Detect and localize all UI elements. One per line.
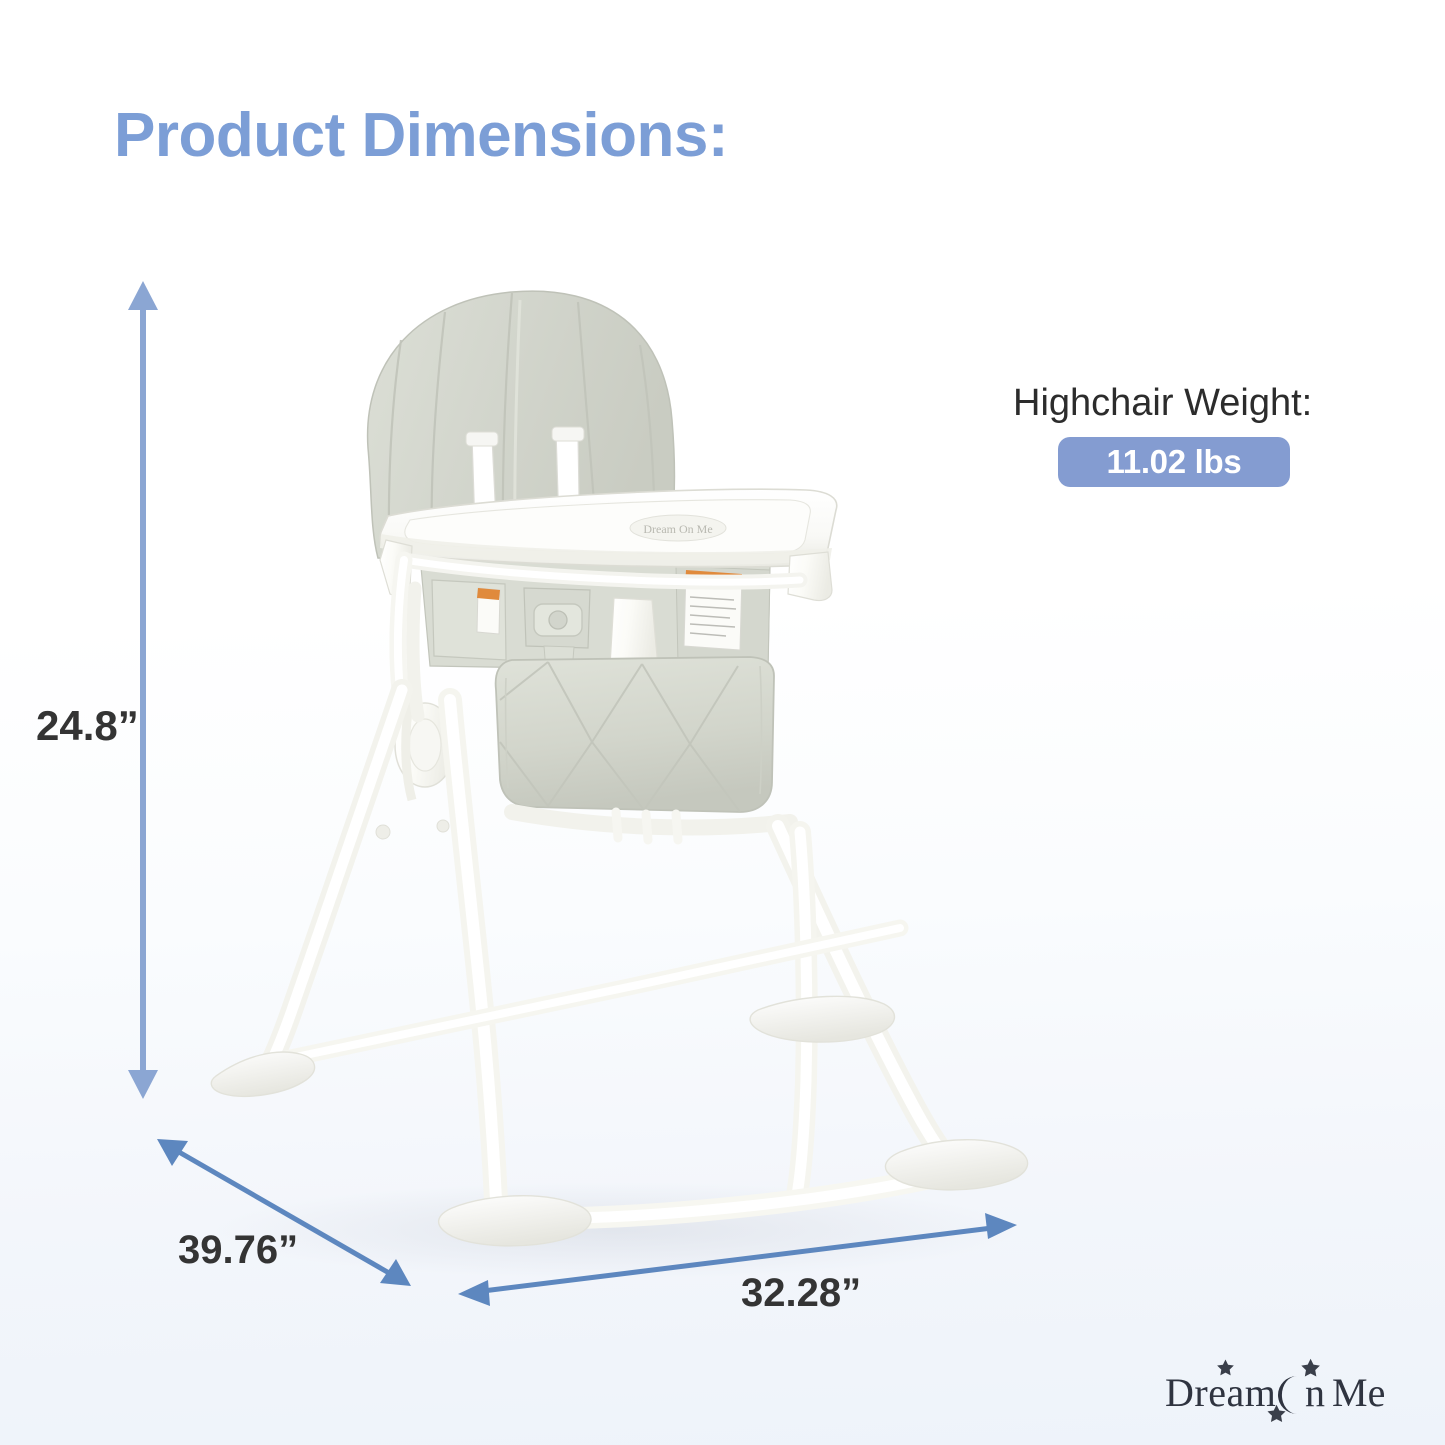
brand-logo-me: Me bbox=[1332, 1370, 1385, 1415]
highchair-weight-badge: 11.02 lbs bbox=[1058, 437, 1290, 487]
highchair-weight-label: Highchair Weight: bbox=[1013, 382, 1312, 425]
brand-logo: Dream n Me bbox=[1165, 1358, 1405, 1428]
height-dimension-label: 24.8” bbox=[36, 702, 139, 750]
infographic-canvas: Product Dimensions: bbox=[0, 0, 1445, 1445]
brand-logo-mark: Dream n Me bbox=[1165, 1358, 1405, 1428]
depth-dimension-label: 39.76” bbox=[178, 1228, 298, 1273]
highchair-weight-value: 11.02 lbs bbox=[1107, 443, 1242, 481]
height-dimension-arrow bbox=[128, 281, 158, 1099]
brand-logo-n: n bbox=[1305, 1370, 1325, 1415]
brand-logo-dream: Dream bbox=[1165, 1370, 1276, 1415]
width-dimension-label: 32.28” bbox=[741, 1271, 861, 1316]
crescent-moon-icon bbox=[1278, 1376, 1297, 1414]
width-dimension-arrow bbox=[458, 1213, 1017, 1306]
